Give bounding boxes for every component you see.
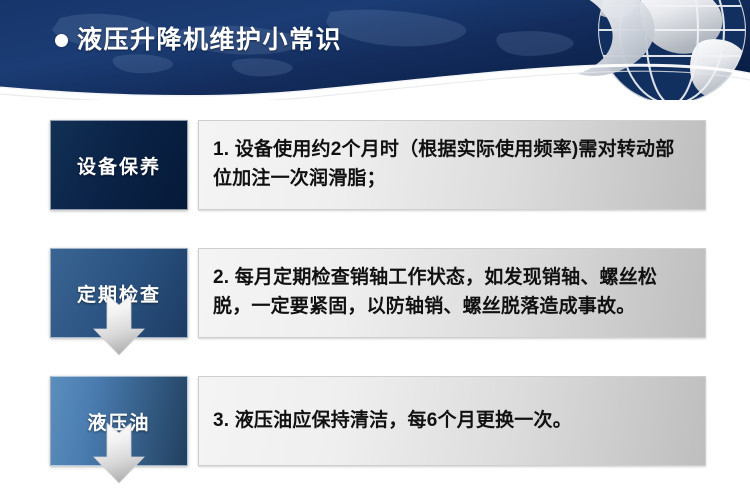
step-text-box-3: 3. 液压油应保持清洁，每6个月更换一次。 (198, 376, 706, 466)
step-text-box-1: 1. 设备使用约2个月时（根据实际使用频率)需对转动部位加注一次润滑脂； (198, 120, 706, 210)
page-header: 液压升降机维护小常识 (0, 0, 750, 100)
step-label-text-1: 设备保养 (77, 152, 161, 179)
arrow-down-icon (93, 423, 145, 485)
step-text-1: 1. 设备使用约2个月时（根据实际使用频率)需对转动部位加注一次润滑脂； (199, 136, 705, 194)
page-title: 液压升降机维护小常识 (55, 20, 342, 60)
page-title-text: 液压升降机维护小常识 (77, 28, 342, 53)
arrow-down-icon (93, 295, 145, 357)
step-label-box-1[interactable]: 设备保养 (50, 120, 188, 210)
step-text-3: 3. 液压油应保持清洁，每6个月更换一次。 (199, 407, 588, 436)
bullet-dot-icon (55, 34, 68, 47)
step-row-1: 设备保养 1. 设备使用约2个月时（根据实际使用频率)需对转动部位加注一次润滑脂… (0, 120, 750, 210)
maintenance-steps-list: 设备保养 1. 设备使用约2个月时（根据实际使用频率)需对转动部位加注一次润滑脂… (0, 100, 750, 495)
step-text-2: 2. 每月定期检查销轴工作状态，如发现销轴、螺丝松脱，一定要紧固，以防轴销、螺丝… (199, 264, 705, 322)
step-text-box-2: 2. 每月定期检查销轴工作状态，如发现销轴、螺丝松脱，一定要紧固，以防轴销、螺丝… (198, 248, 706, 338)
